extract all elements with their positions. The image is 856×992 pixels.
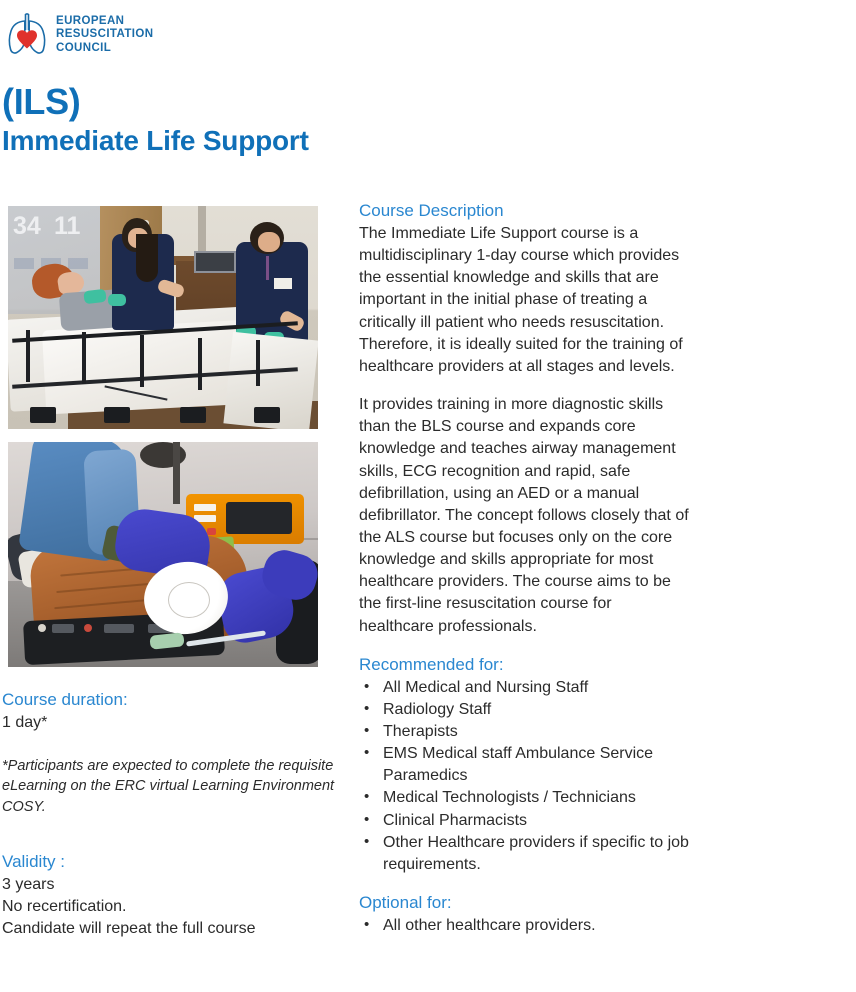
course-duration-heading: Course duration: [2,689,340,712]
optional-for-list: All other healthcare providers. [359,915,689,937]
photo1-rail-post-5 [256,340,260,386]
course-description-paragraph-2: It provides training in more diagnostic … [359,394,689,638]
cpr-defibrillation-photo [8,442,318,667]
photo1-id-badge [274,278,292,289]
photo1-leg-3 [180,407,206,423]
photo1-nurse-left-hair [136,234,158,282]
list-item: Other Healthcare providers if specific t… [359,832,689,876]
photo1-rail-post-4 [198,338,202,390]
photo2-defibrillator-screen [226,502,292,534]
photo2-control-1 [52,624,74,633]
photo2-defibrillator-led-red [207,528,216,535]
list-item: All other healthcare providers. [359,915,689,937]
recommended-for-heading: Recommended for: [359,654,689,677]
validity-heading: Validity : [2,851,340,874]
list-item: Therapists [359,721,689,743]
photo2-control-dot-1 [38,624,46,632]
course-duration-section: Course duration: 1 day* *Participants ar… [0,689,340,817]
validity-line-3: Candidate will repeat the full course [2,918,340,940]
logo-line-council: COUNCIL [56,42,153,56]
erc-logo-wordmark: EUROPEAN RESUSCITATION COUNCIL [56,15,153,56]
optional-for-heading: Optional for: [359,892,689,915]
validity-section: Validity : 3 years No recertification. C… [0,851,340,940]
left-column: 34 11 [0,200,340,940]
validity-line-2: No recertification. [2,896,340,918]
logo-line-european: EUROPEAN [56,15,153,29]
photo1-leg-1 [30,407,56,423]
photo1-gurney-legs [8,389,308,429]
photo1-rail-post-1 [26,330,30,382]
photo2-defibrillator-buttons [194,504,216,522]
course-description-section: Course Description The Immediate Life Su… [359,200,689,638]
course-duration-footnote: *Participants are expected to complete t… [2,756,340,817]
page-title: (ILS) Immediate Life Support [2,84,309,155]
course-abbreviation: (ILS) [2,84,309,120]
validity-line-1: 3 years [2,874,340,896]
course-description-paragraph-1: The Immediate Life Support course is a m… [359,223,689,378]
list-item: Clinical Pharmacists [359,810,689,832]
photo1-rail-post-3 [140,335,144,387]
logo-line-resuscitation: RESUSCITATION [56,28,153,42]
photo1-green-glove-2 [108,294,126,306]
optional-for-section: Optional for: All other healthcare provi… [359,892,689,937]
photo1-monitor [194,251,236,273]
list-item: Medical Technologists / Technicians [359,787,689,809]
photo2-aed-pad-marking [168,582,210,618]
photo1-vital-number-1: 34 [13,212,41,241]
photo2-stand-pole [173,442,180,504]
erc-logo: EUROPEAN RESUSCITATION COUNCIL [6,10,153,60]
photo1-leg-4 [254,407,280,423]
recommended-for-section: Recommended for: All Medical and Nursing… [359,654,689,876]
photo1-leg-2 [104,407,130,423]
simulation-training-photo: 34 11 [8,206,318,429]
list-item: All Medical and Nursing Staff [359,677,689,699]
course-full-name: Immediate Life Support [2,126,309,155]
photo1-lanyard [266,256,269,280]
course-duration-value: 1 day* [2,712,340,734]
course-description-heading: Course Description [359,200,689,223]
list-item: EMS Medical staff Ambulance Service Para… [359,743,689,787]
photo1-rail-post-2 [82,332,86,384]
list-item: Radiology Staff [359,699,689,721]
photo2-control-2 [104,624,134,633]
lungs-heart-icon [6,10,48,60]
right-column: Course Description The Immediate Life Su… [359,200,689,937]
photo1-nurse-right-face [258,232,280,252]
photo1-vital-number-2: 11 [54,212,80,241]
photo2-control-dot-2 [84,624,92,632]
recommended-for-list: All Medical and Nursing Staff Radiology … [359,677,689,876]
